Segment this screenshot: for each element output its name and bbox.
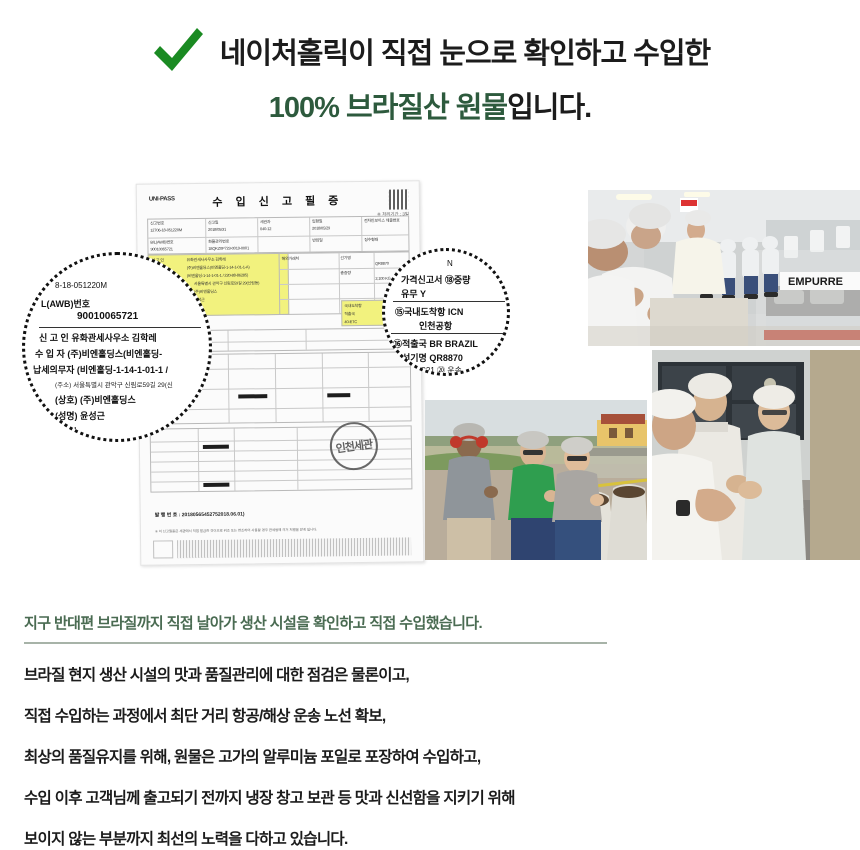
callout-left-content: 8-18-051220M L(AWB)번호 90010065721 신 고 인 … [25, 255, 209, 439]
copy-body-line-1: 브라질 현지 생산 시설의 맛과 품질관리에 대한 점검은 물론이고, [24, 663, 836, 685]
photo-factory-handwash-graphic: EMPURRE [588, 190, 860, 346]
doc-cell-2-label: 신고일 [208, 220, 219, 225]
headline-block: 네이처홀릭이 직접 눈으로 확인하고 수입한 100% 브라질산 원물입니다. [0, 30, 860, 126]
doc-weight-label: 선기명 [340, 255, 351, 260]
callout-l-line-3: 90010065721 [77, 311, 138, 322]
headline-line-2: 100% 브라질산 원물입니다. [0, 91, 860, 126]
doc-cell-8-label: 반입일 [312, 237, 323, 242]
doc-cell-1-value: 12706-18-051220M [150, 227, 182, 232]
doc-export-country: 적출국 [344, 311, 355, 316]
callout-l-line-10: 주 선 인 [47, 425, 77, 438]
copy-body-line-4: 수입 이후 고객님께 출고되기 전까지 냉장 창고 보관 등 맛과 신선함을 지… [24, 786, 836, 808]
photo-facility-meeting-graphic [652, 350, 860, 560]
doc-grid-row-1: 신고번호 12706-18-051220M 신고일 2018/05/31 세관과… [147, 215, 409, 254]
doc-cell-6-value: 90010065721 [150, 246, 172, 251]
magnifier-callout-right: N 가격신고서 ⑱중량 유무 Y ⑮국내도착항 ICN 인천공항 ⑯적출국 BR… [382, 248, 510, 376]
callout-l-line-1: 8-18-051220M [55, 281, 107, 290]
copy-body-line-5: 보이지 않는 부분까지 최선의 노력을 다하고 있습니다. [24, 827, 836, 849]
callout-right-content: N 가격신고서 ⑱중량 유무 Y ⑮국내도착항 ICN 인천공항 ⑯적출국 BR… [385, 251, 507, 373]
headline-row-1: 네이처홀릭이 직접 눈으로 확인하고 수입한 [0, 30, 860, 78]
callout-r-line-5: 인천공항 [419, 319, 452, 332]
headline-line-2-tail: 입니다. [507, 92, 591, 124]
magnifier-callout-left: 8-18-051220M L(AWB)번호 90010065721 신 고 인 … [22, 252, 212, 442]
document-stamp-box [153, 540, 173, 558]
callout-r-line-4: ⑮국내도착항 ICN [395, 305, 463, 318]
photo-raw-material-inspection [425, 400, 647, 560]
copy-body-line-2: 직접 수입하는 과정에서 최단 거리 항공/해상 운송 노선 확보, [24, 704, 836, 726]
callout-l-line-5: 수 입 자 (주)비엔홀딩스(비엔홀딩- [35, 347, 162, 360]
doc-cell-4-label: 입항일 [312, 218, 323, 223]
callout-r-line-1: N [447, 259, 453, 268]
callout-l-line-8: (상호) (주)비엔홀딩스 [55, 393, 136, 406]
photo-factory-handwash: EMPURRE [588, 190, 860, 346]
doc-cell-6-label: B/L(AWB)번호 [150, 239, 173, 244]
copy-body-line-3: 최상의 품질유지를 위해, 원물은 고가의 알루미늄 포일로 포장하여 수입하고… [24, 745, 836, 767]
callout-l-line-6: 납세의무자 (비엔홀딩-1-14-1-01-1 / [33, 363, 168, 376]
product-detail-page: 네이처홀릭이 직접 눈으로 확인하고 수입한 100% 브라질산 원물입니다. … [0, 0, 860, 850]
doc-transport-mode: 40-ETC [344, 319, 357, 324]
doc-overseas-label: 해외거래처 [282, 256, 299, 261]
callout-l-line-2: L(AWB)번호 [41, 297, 90, 310]
bottom-copy-block: 지구 반대편 브라질까지 직접 날아가 생산 시설을 확인하고 직접 수입했습니… [24, 612, 836, 849]
doc-arrival-label: 국내도착항 [344, 303, 361, 308]
callout-r-line-6: ⑯적출국 BR BRAZIL [393, 337, 478, 350]
doc-cell-1-label: 신고번호 [150, 220, 164, 225]
photo-facility-meeting [652, 350, 860, 560]
document-barcode [177, 537, 411, 558]
svg-text:EMPURRE: EMPURRE [788, 276, 843, 288]
document-issue-number: 발 행 번 호 : 20180565452752018.06.01) [155, 510, 245, 518]
callout-l-line-4: 신 고 인 유화관세사우소 김학레 [39, 331, 157, 344]
callout-r-line-7: ⑰선기명 QR8870 [393, 351, 463, 364]
document-title: 수 입 신 고 필 증 [137, 191, 419, 210]
doc-cell-3-label: 세관과 [260, 219, 271, 224]
callout-r-line-2: 가격신고서 ⑱중량 [401, 273, 470, 286]
copy-divider [24, 642, 607, 644]
doc-cell-5-label: 전자인보이스 제출번호 [364, 218, 400, 223]
callout-r-line-3: 유무 Y [401, 287, 426, 300]
doc-cell-9-label: 징수형태 [364, 237, 378, 242]
doc-cell-7-label: 화물관리번호 [208, 239, 229, 244]
copy-lead-sentence: 지구 반대편 브라질까지 직접 날아가 생산 시설을 확인하고 직접 수입했습니… [24, 612, 836, 633]
green-check-icon [150, 26, 206, 78]
doc-cell-4-value: 2018/05/29 [312, 225, 330, 230]
doc-cell-7-value: 18QKZ0P723-0019-0001 [208, 245, 249, 250]
qr-code-icon [389, 189, 409, 209]
doc-cell-3-value: 040-12 [260, 226, 271, 231]
callout-l-line-7: (주소) 서울특별시 관악구 신림로59길 29(신 [55, 379, 173, 389]
headline-emphasis: 100% 브라질산 원물 [269, 92, 507, 124]
doc-packages-label: 총중량 [340, 270, 351, 275]
headline-line-1: 네이처홀릭이 직접 눈으로 확인하고 수입한 [220, 37, 710, 72]
photo-raw-material-graphic [425, 400, 647, 560]
doc-cell-2-value: 2018/05/31 [208, 227, 226, 232]
callout-l-line-9: (성명) 윤성근 [55, 409, 105, 422]
document-footnote-1: ※ 이 신고필증은 세관에서 직접 발급한 것이므로 위조 또는 변조하여 사용… [155, 526, 409, 535]
copy-body: 브라질 현지 생산 시설의 맛과 품질관리에 대한 점검은 물론이고, 직접 수… [24, 663, 836, 849]
